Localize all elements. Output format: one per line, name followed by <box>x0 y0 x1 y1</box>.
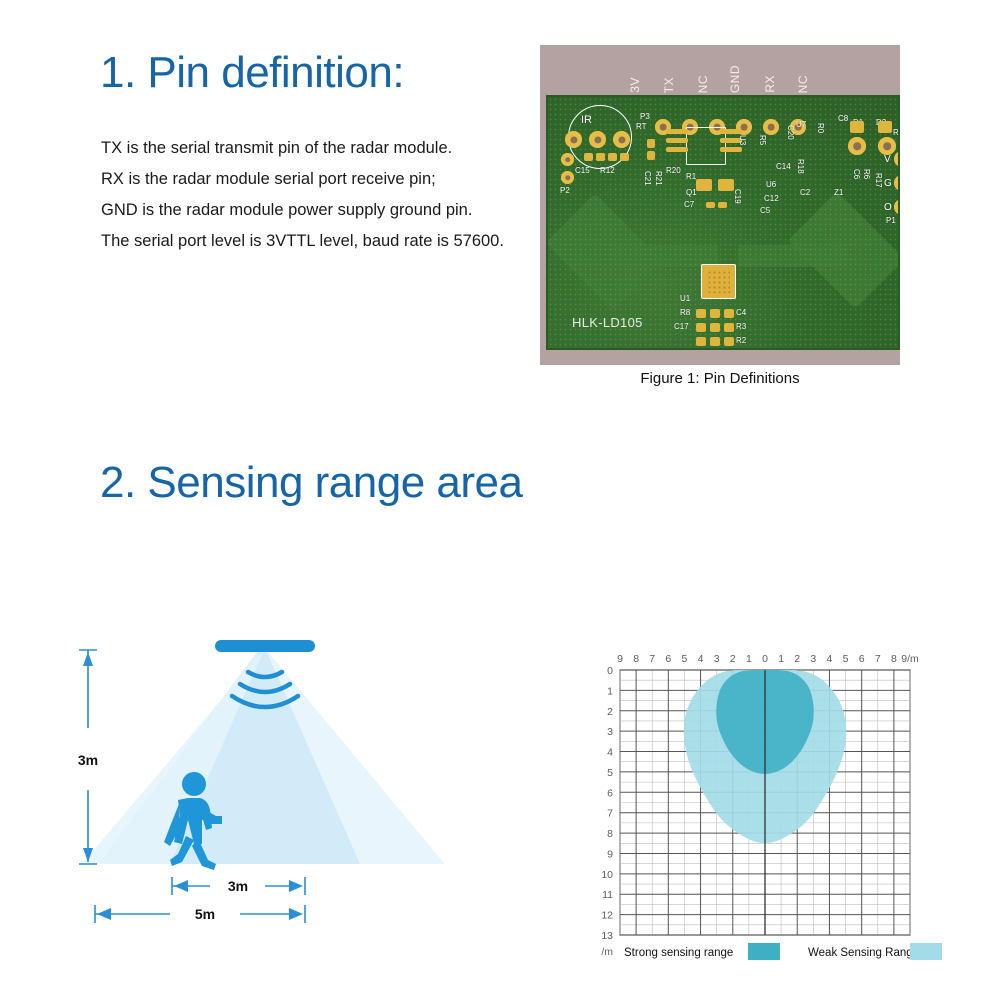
pin-paragraph-gnd: GND is the radar module power supply gro… <box>101 195 541 226</box>
antenna-feed-right <box>738 245 848 267</box>
legend-swatch-strong <box>748 943 780 960</box>
silk-label-c8: C8 <box>838 115 848 123</box>
pad-d1 <box>848 137 866 155</box>
pad-d2 <box>878 137 896 155</box>
u1-radar-chip <box>701 264 736 299</box>
y-tick-label: 7 <box>607 808 613 820</box>
arrow-up <box>83 652 93 666</box>
x-tick-label: 4 <box>698 653 704 665</box>
silk-label-c4: C4 <box>736 309 746 317</box>
x-tick-label: 9 <box>617 653 623 665</box>
y-axis-ticks: 012345678910111213/m <box>601 665 613 958</box>
x-tick-label: 0 <box>762 653 768 665</box>
pin-label-gnd: GND <box>728 65 742 93</box>
pad-r2b <box>710 337 720 346</box>
section-2-heading: 2. Sensing range area <box>100 458 522 508</box>
pad-c15 <box>584 153 593 161</box>
silk-label-c5: C5 <box>760 207 770 215</box>
silk-label-r8: R8 <box>680 309 690 317</box>
legend-swatch-weak <box>910 943 942 960</box>
arrow-left-5m <box>97 908 111 920</box>
x-tick-label: 2 <box>730 653 736 665</box>
x-tick-label: 7 <box>875 653 881 665</box>
y-tick-label: 0 <box>607 665 613 677</box>
pad-ir-1 <box>565 131 582 148</box>
dimension-label-inner-width: 3m <box>228 878 248 894</box>
y-tick-label: 3 <box>607 726 613 738</box>
silk-label-c6: C6 <box>852 169 860 179</box>
silk-label-u7: U7 <box>796 121 806 129</box>
silk-label-r0: R0 <box>816 123 824 133</box>
y-tick-label: 8 <box>607 828 613 840</box>
pad-xtal-6 <box>720 147 742 152</box>
x-tick-label: 3 <box>810 653 816 665</box>
silk-label-r12: R12 <box>600 167 615 175</box>
x-tick-label: 1 <box>746 653 752 665</box>
y-tick-label: 4 <box>607 747 613 759</box>
silk-label-r5: R5 <box>758 135 766 145</box>
silk-label-p3: P3 <box>640 113 650 121</box>
pcb-photo: 3V TX NC GND RX NC IR P2 C15 R12 P3 RT <box>540 45 900 365</box>
x-axis-ticks: 9876543210123456789/m <box>617 653 919 665</box>
pad-c17 <box>696 323 706 332</box>
y-tick-label: 10 <box>601 869 613 881</box>
pad-r3b <box>724 323 734 332</box>
pin-paragraph-rx: RX is the radar module serial port recei… <box>101 164 541 195</box>
silk-label-r3: R3 <box>736 323 746 331</box>
x-tick-label: 2 <box>794 653 800 665</box>
silk-label-r20: R20 <box>666 167 681 175</box>
silk-label-r2: R2 <box>736 337 746 345</box>
pad-xtal-2 <box>666 138 688 143</box>
pad-r2c <box>724 337 734 346</box>
silk-label-u1: U1 <box>680 295 690 303</box>
silk-label-rt: RT <box>636 123 647 131</box>
silk-label-c15: C15 <box>575 167 590 175</box>
section-1-heading: 1. Pin definition: <box>100 48 404 98</box>
pad-o <box>894 199 900 215</box>
silk-label-c20: C20 <box>786 125 794 140</box>
pad-ir-2 <box>589 131 606 148</box>
arrow-right-3m <box>289 880 303 892</box>
pin-header-labels: 3V TX NC GND RX NC <box>546 45 906 95</box>
cone-diagram-svg: 3m 3m 5m <box>60 618 460 953</box>
y-tick-label: 2 <box>607 706 613 718</box>
pin-paragraph-tx: TX is the serial transmit pin of the rad… <box>101 133 541 164</box>
arrow-right-5m <box>289 908 303 920</box>
pin-label-rx: RX <box>763 75 777 93</box>
silk-label-p2: P2 <box>560 187 570 195</box>
x-tick-label: 6 <box>859 653 865 665</box>
dimension-label-height: 3m <box>78 752 98 768</box>
silk-label-o: O <box>884 203 892 213</box>
legend-label-weak: Weak Sensing Range <box>808 947 919 959</box>
silk-label-q1: Q1 <box>686 189 697 197</box>
pad-q1-b <box>718 179 734 191</box>
board-part-number: HLK-LD105 <box>572 315 643 330</box>
pad-d1-top <box>850 121 864 133</box>
silk-label-g: G <box>884 179 892 189</box>
arrow-left-3m <box>174 880 188 892</box>
silk-label-v: V <box>884 155 891 165</box>
pin-label-3v: 3V <box>628 77 642 93</box>
silk-label-r17: R17 <box>874 173 882 188</box>
silk-label-u3: U3 <box>738 135 746 145</box>
silk-label-p1: P1 <box>886 217 896 225</box>
silk-label-c17: C17 <box>674 323 689 331</box>
y-tick-label: 1 <box>607 685 613 697</box>
x-tick-label: 8 <box>891 653 897 665</box>
x-tick-label: 3 <box>714 653 720 665</box>
pad-xtal-4 <box>720 129 742 134</box>
pad-c4a <box>710 309 720 318</box>
silk-label-z1: Z1 <box>834 189 843 197</box>
pin-label-tx: TX <box>662 77 676 93</box>
x-tick-label: 5 <box>682 653 688 665</box>
y-tick-label: 5 <box>607 767 613 779</box>
pad-c7-a <box>706 202 715 208</box>
silk-label-c7: C7 <box>684 201 694 209</box>
x-tick-label: 4 <box>827 653 833 665</box>
silk-label-u6: U6 <box>766 181 776 189</box>
x-tick-label: 7 <box>649 653 655 665</box>
silk-label-r18: R18 <box>796 159 804 174</box>
pad-r12-b <box>608 153 617 161</box>
silk-label-ir: IR <box>581 115 592 126</box>
pcb-board: IR P2 C15 R12 P3 RT C21 R21 R20 R <box>546 95 900 350</box>
pin-paragraph-level: The serial port level is 3VTTL level, ba… <box>101 226 541 257</box>
pad-c21-b <box>647 151 655 160</box>
pad-c21-a <box>647 139 655 148</box>
pad-c4b <box>724 309 734 318</box>
silk-label-c12: C12 <box>764 195 779 203</box>
sensing-cone-diagram: 3m 3m 5m <box>60 618 460 953</box>
silk-label-c21: C21 <box>643 171 651 186</box>
pad-p2-b <box>561 171 574 184</box>
pad-r12-a <box>596 153 605 161</box>
y-tick-label: 13 <box>601 930 613 942</box>
pad-r8 <box>696 309 706 318</box>
x-tick-label: 6 <box>665 653 671 665</box>
y-tick-label: 11 <box>602 889 613 901</box>
pad-xtal-1 <box>666 129 688 134</box>
pad-q1-a <box>696 179 712 191</box>
pad-xtal-3 <box>666 147 688 152</box>
pin-label-nc2: NC <box>796 75 810 93</box>
pad-ir-3 <box>613 131 630 148</box>
legend-label-strong: Strong sensing range <box>624 947 733 959</box>
sensing-range-grid-chart: 9876543210123456789/m 012345678910111213… <box>580 640 945 975</box>
grid-chart-svg: 9876543210123456789/m 012345678910111213… <box>580 640 945 975</box>
x-tick-label: 8 <box>633 653 639 665</box>
pin-label-nc1: NC <box>696 75 710 93</box>
y-tick-label: 12 <box>601 910 613 922</box>
x-tick-label: 1 <box>778 653 784 665</box>
pad-r3a <box>710 323 720 332</box>
x-tick-label: 9/m <box>901 653 919 665</box>
silk-label-r1: R1 <box>686 173 696 181</box>
x-tick-label: 5 <box>843 653 849 665</box>
silk-label-c19: C19 <box>733 189 741 204</box>
pad-r2a <box>696 337 706 346</box>
silk-label-r6: R6 <box>862 169 870 179</box>
silk-label-c14: C14 <box>776 163 791 171</box>
radar-sensor-icon <box>215 640 315 652</box>
pad-g <box>894 175 900 191</box>
dimension-label-outer-width: 5m <box>195 906 215 922</box>
silk-label-r4: R4 <box>893 129 900 137</box>
y-tick-label: /m <box>601 946 613 958</box>
header-pad-rx <box>763 119 779 135</box>
pad-d2-top <box>878 121 892 133</box>
figure-1-caption: Figure 1: Pin Definitions <box>540 370 900 387</box>
silk-label-r21: R21 <box>654 171 662 186</box>
pad-p2-a <box>561 153 574 166</box>
pad-extra-1 <box>620 153 629 161</box>
pad-v <box>894 151 900 167</box>
silk-label-c2: C2 <box>800 189 810 197</box>
pad-c7-b <box>718 202 727 208</box>
pin-definition-text: TX is the serial transmit pin of the rad… <box>101 133 541 257</box>
y-tick-label: 6 <box>607 787 613 799</box>
y-tick-label: 9 <box>607 848 613 860</box>
